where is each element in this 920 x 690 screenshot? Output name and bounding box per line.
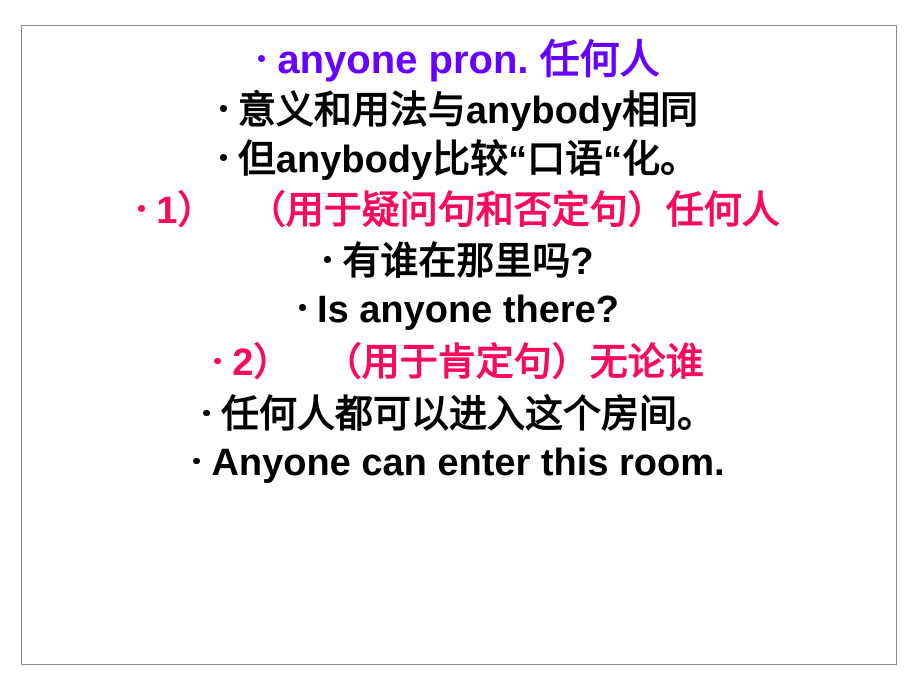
bullet-icon: [299, 288, 306, 328]
meaning-note-text: 意义和用法与anybody相同: [238, 91, 698, 131]
example-2-en-text: Anyone can enter this room.: [211, 443, 724, 483]
bullet-icon: [258, 37, 265, 79]
usage-1-number: 1）: [156, 191, 215, 231]
example-1-en-text: Is anyone there?: [317, 290, 619, 330]
example-2-cn-text: 任何人都可以进入这个房间。: [221, 395, 715, 435]
usage-1-detail: （用于疑问句和否定句）任何人: [248, 191, 780, 231]
bullet-icon: [138, 189, 145, 229]
list-item-usage-1[interactable]: 1）（用于疑问句和否定句）任何人: [22, 191, 896, 233]
list-item-headword[interactable]: anyone pron. 任何人: [22, 39, 896, 84]
example-1-cn-text: 有谁在那里吗?: [342, 242, 593, 282]
list-item-usage-2[interactable]: 2）（用于肯定句）无论谁: [22, 343, 896, 385]
headword-text: anyone pron. 任何人: [277, 39, 659, 81]
bullet-icon: [220, 89, 227, 129]
list-item-example-1-cn[interactable]: 有谁在那里吗?: [22, 242, 896, 284]
list-item-example-2-en[interactable]: Anyone can enter this room.: [22, 443, 896, 485]
bullet-list: anyone pron. 任何人 意义和用法与anybody相同 但anybod…: [22, 26, 896, 485]
bullet-icon: [214, 341, 221, 381]
list-item-example-1-en[interactable]: Is anyone there?: [22, 290, 896, 332]
bullet-icon: [203, 393, 210, 433]
slide-canvas: anyone pron. 任何人 意义和用法与anybody相同 但anybod…: [0, 0, 920, 690]
bullet-icon: [193, 441, 200, 481]
register-note-text: 但anybody比较“口语“化。: [238, 140, 698, 180]
slide-content-frame: anyone pron. 任何人 意义和用法与anybody相同 但anybod…: [21, 25, 897, 665]
bullet-icon: [324, 240, 331, 280]
list-item-register-note[interactable]: 但anybody比较“口语“化。: [22, 140, 896, 182]
list-item-meaning-note[interactable]: 意义和用法与anybody相同: [22, 91, 896, 133]
usage-2-detail: （用于肯定句）无论谁: [324, 343, 704, 383]
usage-2-number: 2）: [232, 343, 291, 383]
list-item-example-2-cn[interactable]: 任何人都可以进入这个房间。: [22, 395, 896, 437]
bullet-icon: [220, 138, 227, 178]
